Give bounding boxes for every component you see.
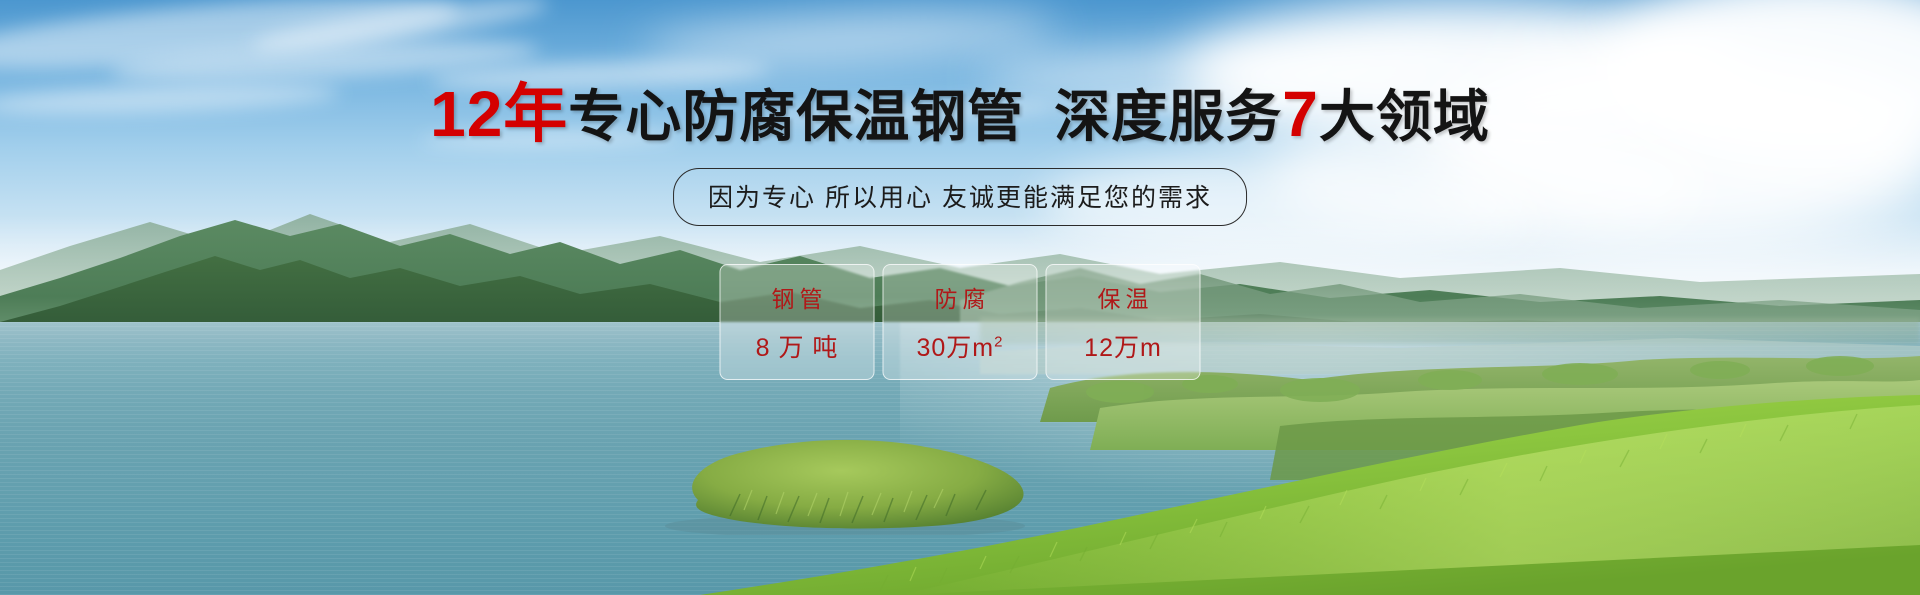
cloud-icon	[0, 0, 461, 83]
headline-years-number: 12	[430, 78, 503, 150]
stat-value-main: 30万m	[917, 334, 995, 362]
stat-value: 30万m2	[917, 328, 1004, 364]
stat-card-anticorrosion[interactable]: 防腐 30万m2	[883, 264, 1038, 380]
headline-phrase-3: 大领域	[1319, 85, 1490, 148]
stat-card-steel-pipe[interactable]: 钢管 8 万 吨	[720, 264, 875, 380]
hero-banner: 12年专心防腐保温钢管深度服务7大领域 因为专心 所以用心 友诚更能满足您的需求…	[0, 0, 1920, 595]
stat-label: 保温	[1093, 280, 1154, 314]
stat-value-superscript: 2	[994, 334, 1003, 351]
stat-value-main: 8 万 吨	[756, 334, 839, 362]
stat-label: 钢管	[767, 280, 828, 314]
stat-value: 8 万 吨	[756, 328, 839, 364]
cloud-icon	[639, 7, 1061, 69]
stat-card-insulation[interactable]: 保温 12万m	[1046, 264, 1201, 380]
subtitle-pill: 因为专心 所以用心 友诚更能满足您的需求	[673, 168, 1247, 226]
stat-value-main: 12万m	[1084, 334, 1162, 362]
grass-island	[640, 430, 1060, 535]
page-title: 12年专心防腐保温钢管深度服务7大领域	[0, 84, 1920, 147]
cloud-icon	[249, 0, 550, 61]
headline-years-unit: 年	[503, 78, 568, 150]
headline-seven: 7	[1282, 78, 1319, 150]
stat-label: 防腐	[930, 280, 991, 314]
headline-phrase-1: 专心防腐保温钢管	[568, 85, 1024, 148]
stat-value: 12万m	[1084, 328, 1162, 364]
stat-card-group: 钢管 8 万 吨 防腐 30万m2 保温 12万m	[720, 264, 1201, 380]
headline-phrase-2: 深度服务	[1054, 85, 1282, 148]
